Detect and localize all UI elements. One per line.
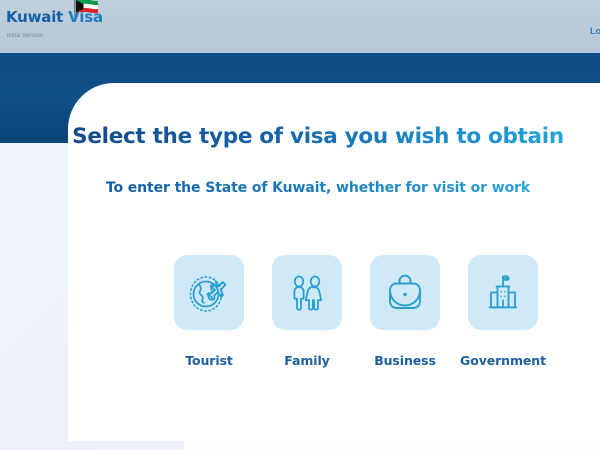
visa-type-business[interactable]: Business [366, 255, 444, 368]
page-root: Kuwait Visa Beta Version Login Select th… [0, 0, 600, 450]
visa-type-family[interactable]: Family [268, 255, 346, 368]
visa-type-tourist[interactable]: Tourist [170, 255, 248, 368]
visa-type-government-tile[interactable] [468, 255, 538, 330]
page-subtitle: To enter the State of Kuwait, whether fo… [68, 179, 568, 197]
two-people-icon [284, 270, 330, 316]
briefcase-icon [382, 270, 428, 316]
visa-type-business-label: Business [374, 353, 436, 368]
brand-title-kuwait: Kuwait [6, 8, 63, 26]
visa-type-tourist-label: Tourist [185, 353, 233, 368]
government-building-flag-icon [480, 270, 526, 316]
visa-type-list: Tourist Family [170, 255, 566, 368]
visa-type-family-label: Family [284, 353, 329, 368]
login-link[interactable]: Login [590, 26, 600, 36]
beta-version-label: Beta Version [7, 33, 43, 39]
visa-type-family-tile[interactable] [272, 255, 342, 330]
visa-type-government-label: Government [460, 353, 546, 368]
globe-airplane-icon [185, 269, 233, 317]
top-header-bar: Kuwait Visa Beta Version Login [0, 0, 600, 54]
visa-type-tourist-tile[interactable] [174, 255, 244, 330]
visa-type-business-tile[interactable] [370, 255, 440, 330]
page-title: Select the type of visa you wish to obta… [68, 124, 568, 150]
visa-type-government[interactable]: Government [464, 255, 542, 368]
kuwait-flag-icon [74, 0, 100, 18]
